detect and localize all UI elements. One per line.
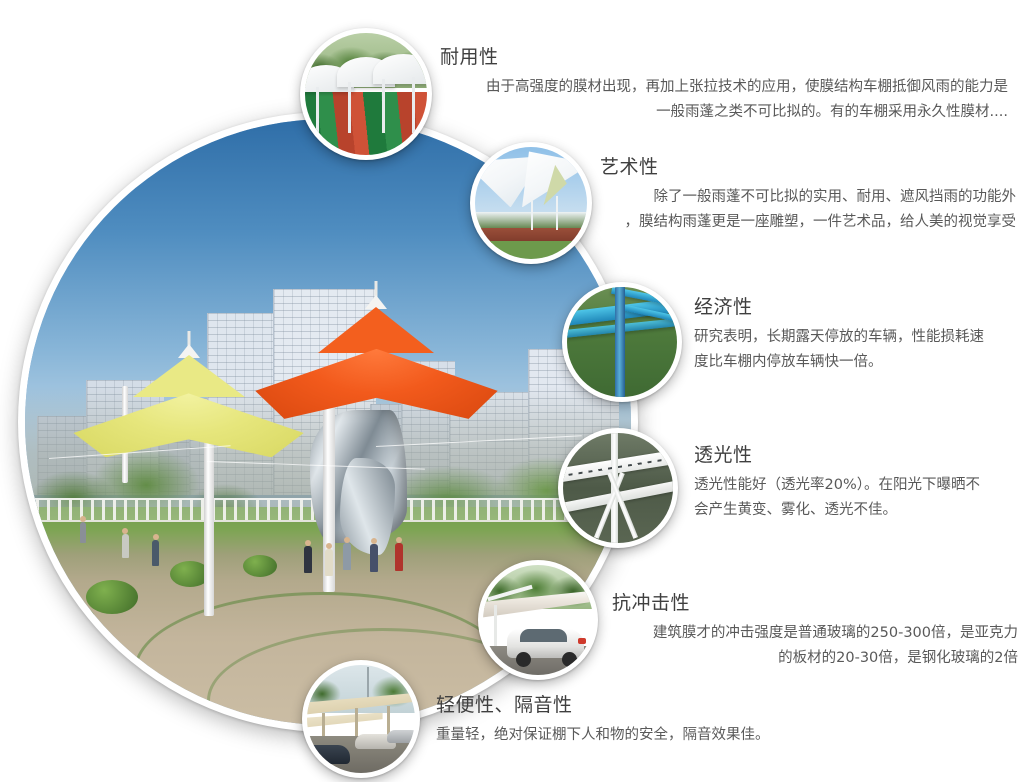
feature-title: 透光性	[694, 440, 1014, 467]
feature-text-durability: 耐用性 由于高强度的膜材出现，再加上张拉技术的应用，使膜结构车棚抵御风雨的能力是…	[440, 42, 1008, 126]
suv-wheel	[516, 652, 531, 667]
steel-column	[615, 287, 625, 397]
thumbnail-translucency[interactable]	[558, 428, 678, 548]
canopy-post	[412, 77, 415, 133]
thumbnail-impact-resistance[interactable]	[478, 560, 598, 680]
canopy-post	[382, 79, 385, 133]
parked-car	[307, 745, 350, 764]
pedestrian	[343, 543, 351, 570]
thumbnail-artistry[interactable]	[470, 142, 592, 264]
feature-line: 由于高强度的膜材出现，再加上张拉技术的应用，使膜结构车棚抵御风雨的能力是	[440, 75, 1008, 100]
feature-line: 透光性能好（透光率20%）。在阳光下曝晒不	[694, 473, 1014, 498]
feature-title: 艺术性	[600, 152, 1016, 179]
beige-carport-roof	[307, 713, 383, 732]
feature-line: 会产生黄变、雾化、透光不佳。	[694, 498, 1014, 523]
canopy-post	[316, 87, 319, 133]
suv-wheel	[562, 652, 577, 667]
sail-mast	[556, 196, 558, 230]
thumb-grass	[475, 241, 587, 259]
canopy-post	[348, 82, 351, 133]
feature-body: 重量轻，绝对保证棚下人和物的安全，隔音效果佳。	[436, 723, 818, 748]
feature-title: 经济性	[694, 292, 1014, 319]
thumbnail-economy[interactable]	[562, 282, 682, 402]
sail-mast	[531, 201, 533, 230]
taillight	[578, 638, 586, 644]
feature-line: 的板材的20-30倍，是钢化玻璃的2倍	[612, 646, 1018, 671]
feature-body: 由于高强度的膜材出现，再加上张拉技术的应用，使膜结构车棚抵御风雨的能力是 一般雨…	[440, 75, 1008, 126]
feature-text-impact-resistance: 抗冲击性 建筑膜才的冲击强度是普通玻璃的250-300倍，是亚克力 的板材的20…	[612, 588, 1018, 672]
feature-body: 除了一般雨蓬不可比拟的实用、耐用、遮风挡雨的功能外 ，膜结构雨蓬更是一座雕塑，一…	[600, 185, 1016, 236]
feature-line: 研究表明，长期露天停放的车辆，性能损耗速	[694, 325, 1014, 350]
poster-canvas: 耐用性 由于高强度的膜材出现，再加上张拉技术的应用，使膜结构车棚抵御风雨的能力是…	[0, 0, 1023, 782]
feature-line: 建筑膜才的冲击强度是普通玻璃的250-300倍，是亚克力	[612, 621, 1018, 646]
feature-title: 抗冲击性	[612, 588, 1018, 615]
pedestrian	[122, 534, 129, 558]
canopy-cone	[133, 355, 245, 397]
feature-line: 重量轻，绝对保证棚下人和物的安全，隔音效果佳。	[436, 723, 818, 748]
canopy-cone	[318, 307, 434, 353]
pedestrian	[152, 540, 159, 566]
feature-line: ，膜结构雨蓬更是一座雕塑，一件艺术品，给人美的视觉享受	[600, 210, 1016, 235]
feature-body: 研究表明，长期露天停放的车辆，性能损耗速 度比车棚内停放车辆快一倍。	[694, 325, 1014, 376]
thumbnail-image	[307, 665, 415, 773]
thumbnail-image	[483, 565, 593, 675]
thumbnail-image	[563, 433, 673, 543]
shrub	[86, 580, 138, 614]
feature-text-translucency: 透光性 透光性能好（透光率20%）。在阳光下曝晒不 会产生黄变、雾化、透光不佳。	[694, 440, 1014, 524]
suv-windows	[520, 629, 566, 642]
feature-line: 一般雨蓬之类不可比拟的。有的车棚采用永久性膜材....	[440, 100, 1008, 125]
pedestrian	[304, 546, 312, 573]
shrub	[49, 604, 95, 634]
feature-text-economy: 经济性 研究表明，长期露天停放的车辆，性能损耗速 度比车棚内停放车辆快一倍。	[694, 292, 1014, 376]
thumbnail-lightweight-soundproof[interactable]	[302, 660, 420, 778]
feature-title: 耐用性	[440, 42, 1008, 69]
pedestrian	[370, 544, 378, 572]
feature-body: 建筑膜才的冲击强度是普通玻璃的250-300倍，是亚克力 的板材的20-30倍，…	[612, 621, 1018, 672]
sports-court	[305, 92, 427, 155]
pedestrian	[325, 549, 333, 576]
thumbnail-durability[interactable]	[300, 28, 432, 160]
thumbnail-image	[305, 33, 427, 155]
feature-text-lightweight-soundproof: 轻便性、隔音性 重量轻，绝对保证棚下人和物的安全，隔音效果佳。	[436, 690, 818, 748]
carport-post	[494, 605, 497, 649]
pedestrian	[80, 522, 86, 543]
feature-title: 轻便性、隔音性	[436, 690, 818, 717]
feature-line: 除了一般雨蓬不可比拟的实用、耐用、遮风挡雨的功能外	[600, 185, 1016, 210]
parked-car	[387, 730, 415, 743]
feature-body: 透光性能好（透光率20%）。在阳光下曝晒不 会产生黄变、雾化、透光不佳。	[694, 473, 1014, 524]
thumbnail-image	[567, 287, 677, 397]
feature-text-artistry: 艺术性 除了一般雨蓬不可比拟的实用、耐用、遮风挡雨的功能外 ，膜结构雨蓬更是一座…	[600, 152, 1016, 236]
feature-line: 度比车棚内停放车辆快一倍。	[694, 350, 1014, 375]
thumbnail-image	[475, 147, 587, 259]
yellow-membrane-canopy	[73, 355, 303, 452]
pedestrian	[395, 543, 403, 571]
